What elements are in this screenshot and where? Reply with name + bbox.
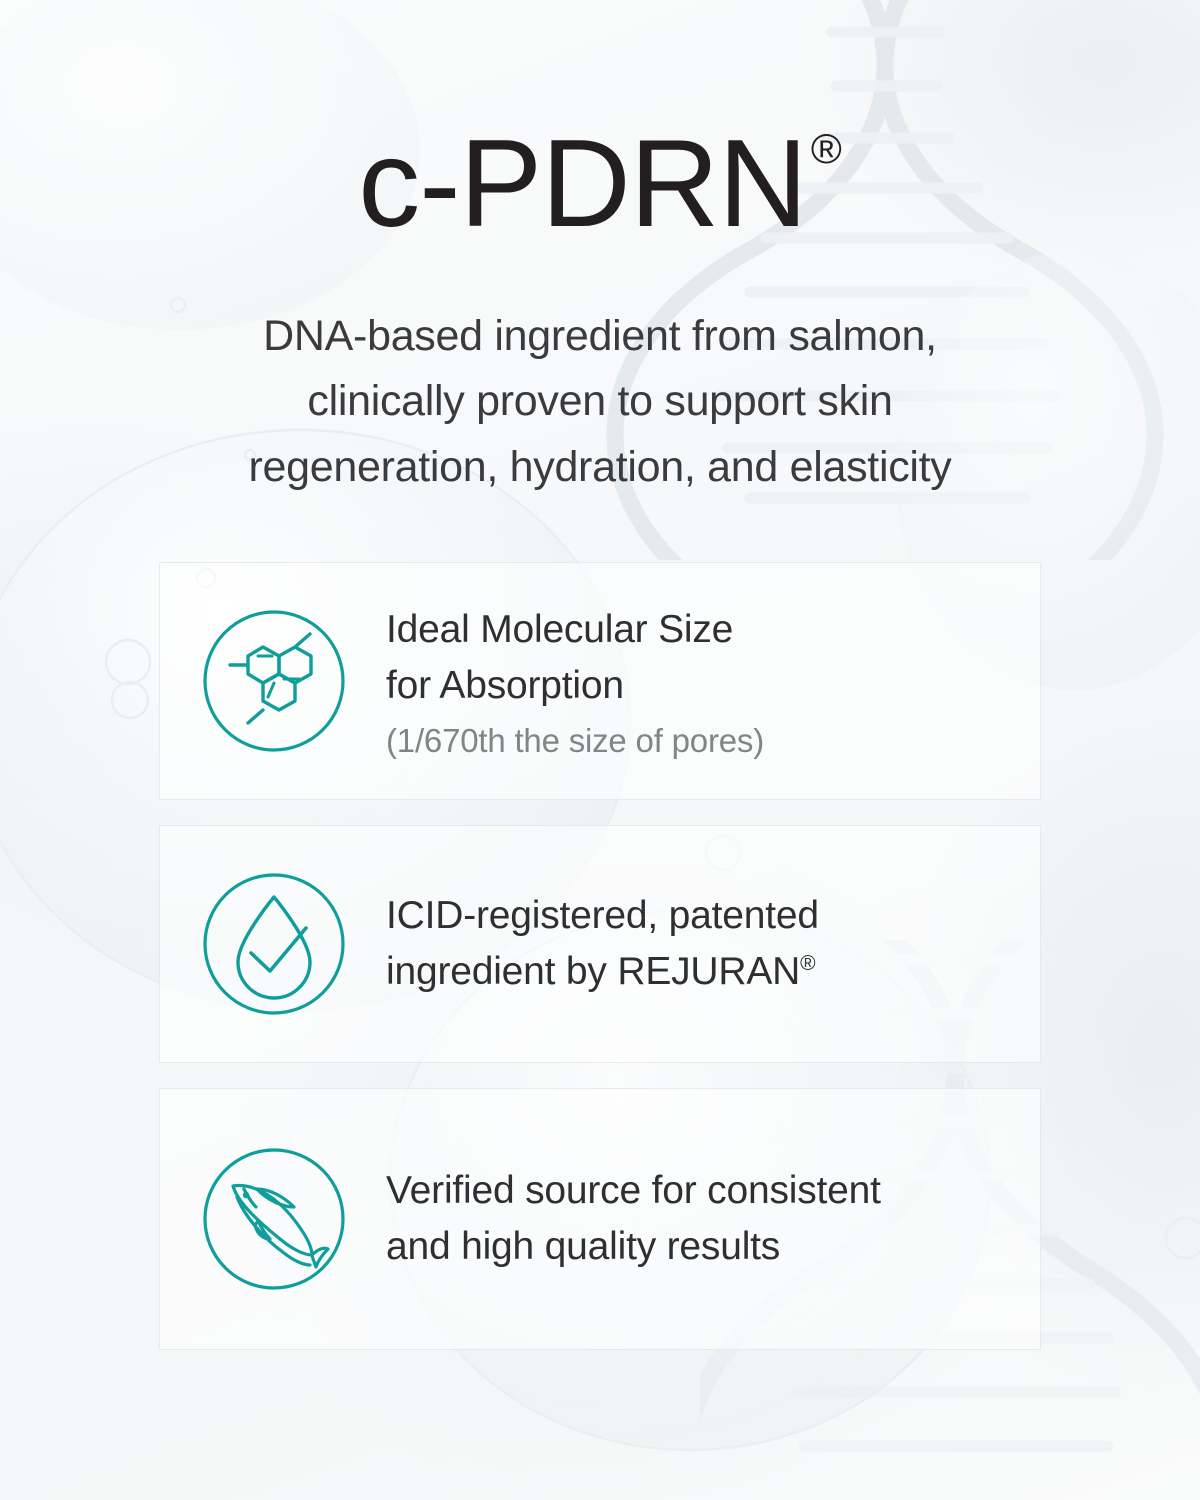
feature-card-text: Verified source for consistent and high …: [386, 1163, 1020, 1275]
feature-title: ICID-registered, patented ingredient by …: [386, 888, 1020, 1000]
rejuran-trademark-symbol: ®: [800, 952, 815, 975]
page-subtitle: DNA-based ingredient from salmon, clinic…: [150, 304, 1050, 500]
page-title: c-PDRN: [358, 122, 807, 246]
feature-title-line-2: and high quality results: [386, 1219, 1020, 1275]
feature-title-line-1: Verified source for consistent: [386, 1163, 1020, 1219]
registered-trademark-symbol: ®: [811, 128, 842, 170]
feature-card-text: Ideal Molecular Size for Absorption (1/6…: [386, 602, 1020, 760]
molecule-icon: [200, 607, 348, 755]
feature-title-line-1: Ideal Molecular Size: [386, 602, 1020, 658]
feature-title-line-2: ingredient by REJURAN®: [386, 944, 1020, 1000]
brand-title-block: c-PDRN ®: [358, 122, 842, 246]
feature-subtext: (1/670th the size of pores): [386, 722, 1020, 760]
subtitle-line-2: clinically proven to support skin: [150, 369, 1050, 434]
droplet-check-icon: [200, 870, 348, 1018]
feature-card-molecular-size: Ideal Molecular Size for Absorption (1/6…: [159, 562, 1041, 800]
feature-title-line-1: ICID-registered, patented: [386, 888, 1020, 944]
fish-icon: [200, 1145, 348, 1293]
feature-title-line-2-text: ingredient by REJURAN: [386, 950, 800, 993]
feature-title: Ideal Molecular Size for Absorption: [386, 602, 1020, 714]
content-container: c-PDRN ® DNA-based ingredient from salmo…: [0, 0, 1200, 1500]
subtitle-line-1: DNA-based ingredient from salmon,: [150, 304, 1050, 369]
feature-card-verified-source: Verified source for consistent and high …: [159, 1088, 1041, 1350]
feature-card-text: ICID-registered, patented ingredient by …: [386, 888, 1020, 1000]
feature-card-icid-registered: ICID-registered, patented ingredient by …: [159, 825, 1041, 1063]
infographic-page: c-PDRN ® DNA-based ingredient from salmo…: [0, 0, 1200, 1500]
feature-title-line-2: for Absorption: [386, 658, 1020, 714]
feature-title: Verified source for consistent and high …: [386, 1163, 1020, 1275]
feature-card-list: Ideal Molecular Size for Absorption (1/6…: [159, 562, 1041, 1350]
subtitle-line-3: regeneration, hydration, and elasticity: [150, 435, 1050, 500]
